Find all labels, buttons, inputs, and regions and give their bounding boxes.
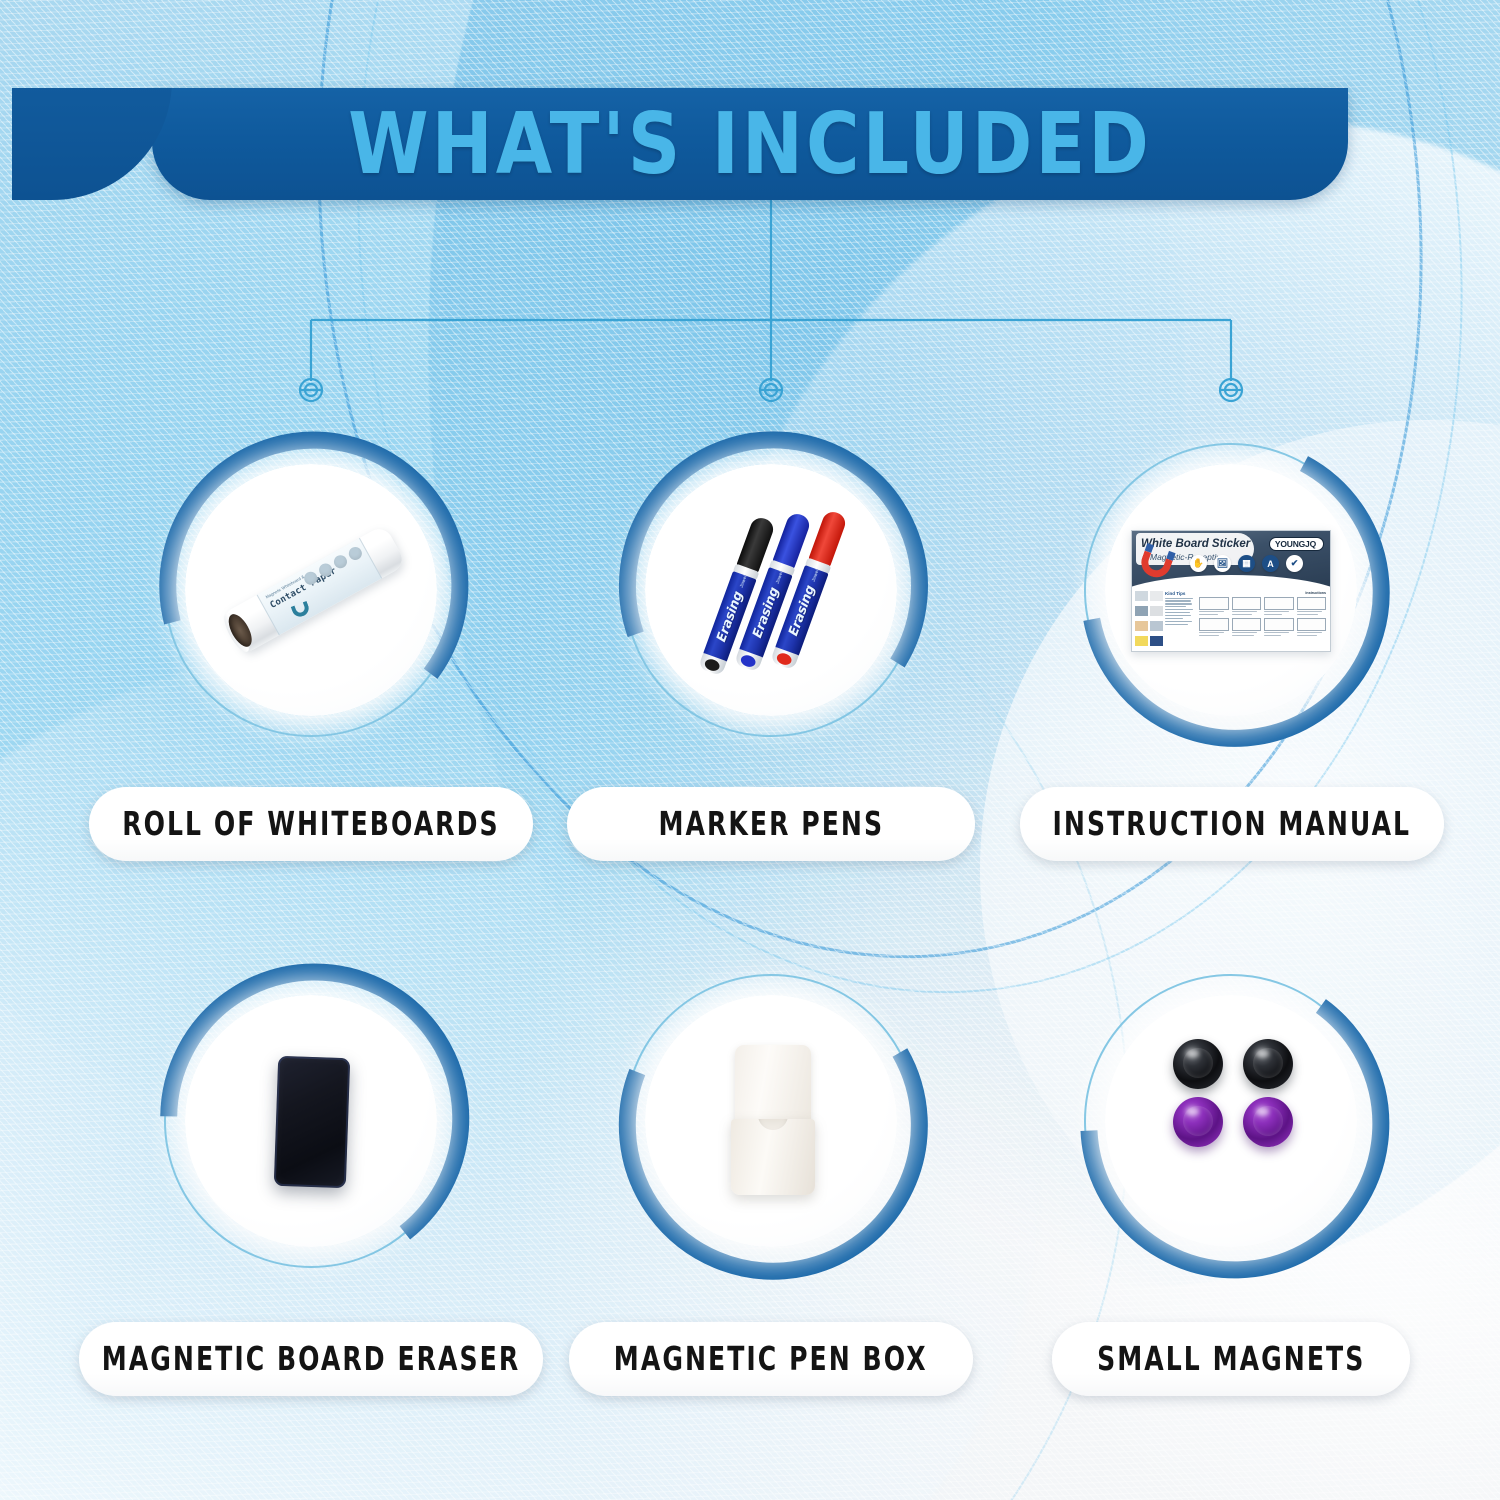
- item-label: SMALL MAGNETS: [1097, 1340, 1365, 1378]
- label-pill-small-magnets[interactable]: SMALL MAGNETS: [1052, 1322, 1410, 1396]
- magnets-art: [1105, 995, 1357, 1247]
- manual-sheet: White Board Sticker Magnetic-Receptive Y…: [1131, 530, 1331, 652]
- grid-icon: ▦: [1238, 555, 1255, 572]
- tips-block: Kind Tips: [1165, 591, 1194, 649]
- check-icon: ✔: [1286, 555, 1303, 572]
- magnets-group: [1171, 1039, 1295, 1163]
- product-circle: [1072, 962, 1390, 1280]
- magnet-black-2: [1243, 1039, 1293, 1089]
- color-swatches: [1135, 591, 1163, 649]
- product-photo-disc: [185, 995, 437, 1247]
- magnet-black-1: [1173, 1039, 1223, 1089]
- product-circle: [152, 962, 470, 1280]
- manual-feature-icons: ✋ 🖼 ▦ A ✔: [1190, 555, 1303, 572]
- product-photo-disc: Magnetic Whiteboard & Contact Paper: [185, 464, 437, 716]
- header-banner: WHAT'S INCLUDED: [152, 88, 1348, 200]
- label-pill-magnetic-pen-box[interactable]: MAGNETIC PEN BOX: [569, 1322, 973, 1396]
- items-grid: Magnetic Whiteboard & Contact Paper: [0, 0, 1500, 1500]
- pen-barrel-text: Erasing: [714, 589, 746, 644]
- roll-label: Magnetic Whiteboard & Contact Paper: [257, 538, 383, 635]
- pen-box-icon: [731, 1045, 815, 1195]
- product-photo-disc: Jiawei Erasing Jiawei: [645, 464, 897, 716]
- manual-body: Kind Tips Instructions: [1132, 587, 1330, 652]
- product-circle: Jiawei Erasing Jiawei: [612, 431, 930, 749]
- label-pill-roll-of-whiteboards[interactable]: ROLL OF WHITEBOARDS: [89, 787, 533, 861]
- pen-brand: Jiawei: [810, 569, 819, 582]
- instruction-manual-art: White Board Sticker Magnetic-Receptive Y…: [1105, 464, 1357, 716]
- image-icon: 🖼: [1214, 555, 1231, 572]
- eraser-art: [185, 995, 437, 1247]
- manual-header: White Board Sticker Magnetic-Receptive Y…: [1132, 531, 1330, 587]
- product-circle: [612, 962, 930, 1280]
- brand-logo: YOUNGJQ: [1269, 537, 1324, 551]
- product-circle: Magnetic Whiteboard & Contact Paper: [152, 431, 470, 749]
- item-label: ROLL OF WHITEBOARDS: [122, 805, 499, 843]
- infographic-canvas: Magnetic Whiteboard & Contact Paper: [0, 0, 1500, 1500]
- manual-title: White Board Sticker: [1141, 538, 1250, 550]
- roll-icon: Magnetic Whiteboard & Contact Paper: [223, 524, 406, 653]
- item-label: INSTRUCTION MANUAL: [1053, 805, 1412, 843]
- pen-box-art: [645, 995, 897, 1247]
- magnet-icon: [1137, 551, 1173, 582]
- marker-pens-art: Jiawei Erasing Jiawei: [645, 464, 897, 716]
- steps-block: Instructions: [1197, 587, 1330, 652]
- roll-feature-icons: [302, 545, 364, 587]
- item-label: MAGNETIC PEN BOX: [614, 1340, 928, 1378]
- item-label: MAGNETIC BOARD ERASER: [102, 1340, 520, 1378]
- magnet-purple-1: [1173, 1097, 1223, 1147]
- pen-barrel-text: Erasing: [750, 585, 782, 640]
- pen-brand: Jiawei: [738, 575, 747, 588]
- product-photo-disc: [1105, 995, 1357, 1247]
- tips-heading: Kind Tips: [1165, 591, 1194, 596]
- label-pill-marker-pens[interactable]: MARKER PENS: [567, 787, 975, 861]
- steps-heading: Instructions: [1199, 591, 1326, 595]
- pen-brand: Jiawei: [774, 571, 783, 584]
- page-title: WHAT'S INCLUDED: [348, 95, 1152, 194]
- magnet-icon: [291, 601, 312, 619]
- hand-icon: ✋: [1190, 555, 1207, 572]
- markers-group: Jiawei Erasing Jiawei: [703, 508, 883, 688]
- item-label: MARKER PENS: [658, 805, 884, 843]
- whiteboard-roll-art: Magnetic Whiteboard & Contact Paper: [185, 464, 437, 716]
- product-photo-disc: [645, 995, 897, 1247]
- pen-barrel-text: Erasing: [786, 583, 818, 638]
- eraser-icon: [274, 1056, 350, 1188]
- a4-icon: A: [1262, 555, 1279, 572]
- magnet-purple-2: [1243, 1097, 1293, 1147]
- product-photo-disc: White Board Sticker Magnetic-Receptive Y…: [1105, 464, 1357, 716]
- label-pill-instruction-manual[interactable]: INSTRUCTION MANUAL: [1020, 787, 1444, 861]
- product-circle: White Board Sticker Magnetic-Receptive Y…: [1072, 431, 1390, 749]
- label-pill-magnetic-board-eraser[interactable]: MAGNETIC BOARD ERASER: [79, 1322, 543, 1396]
